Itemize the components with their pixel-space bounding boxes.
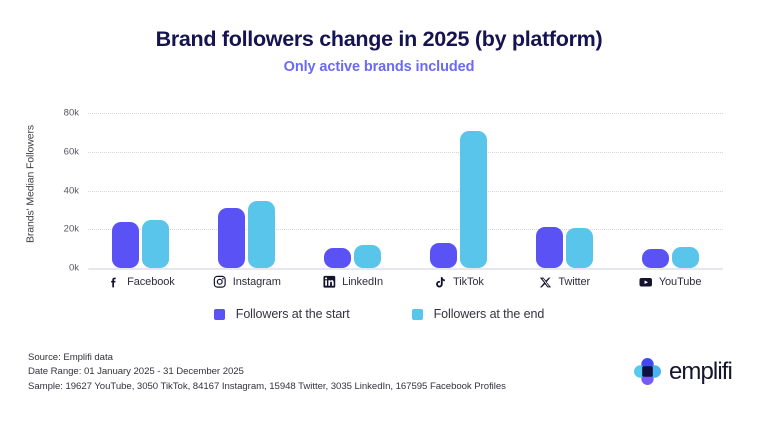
x-axis-labels: FacebookInstagramLinkedInTikTokTwitterYo… bbox=[88, 275, 723, 297]
x-axis-label-text: LinkedIn bbox=[342, 276, 383, 288]
footer-line-key: Source: bbox=[28, 352, 63, 363]
bar[interactable] bbox=[354, 245, 381, 268]
x-axis-label-text: Facebook bbox=[127, 276, 175, 288]
footer-line-key: Date Range: bbox=[28, 366, 84, 377]
bar-group-tiktok bbox=[406, 113, 512, 268]
bar[interactable] bbox=[672, 247, 699, 268]
legend-label: Followers at the start bbox=[236, 307, 350, 321]
bar-group-twitter bbox=[511, 113, 617, 268]
y-axis-title: Brands' Median Followers bbox=[25, 97, 37, 272]
x-axis-label-youtube: YouTube bbox=[639, 275, 702, 289]
chart-legend: Followers at the startFollowers at the e… bbox=[0, 307, 758, 321]
y-axis-tick-label: 60k bbox=[64, 146, 79, 157]
twitter-x-icon bbox=[538, 275, 552, 289]
footer-line-2: Sample: 19627 YouTube, 3050 TikTok, 8416… bbox=[28, 380, 506, 394]
bar-group-facebook bbox=[88, 113, 194, 268]
youtube-icon bbox=[639, 275, 653, 289]
brand-name: emplifi bbox=[669, 360, 732, 384]
x-axis-label-text: Instagram bbox=[233, 276, 281, 288]
bar[interactable] bbox=[218, 208, 245, 268]
plot-area: 0k20k40k60k80k bbox=[88, 113, 723, 268]
y-axis-tick-label: 40k bbox=[64, 185, 79, 196]
bar-group-youtube bbox=[617, 113, 723, 268]
tiktok-icon bbox=[433, 275, 447, 289]
bar[interactable] bbox=[536, 227, 563, 268]
y-axis-tick-label: 0k bbox=[69, 263, 79, 274]
bar[interactable] bbox=[112, 222, 139, 269]
footer-line-key: Sample: bbox=[28, 381, 65, 392]
x-axis-label-instagram: Instagram bbox=[213, 275, 281, 289]
x-axis-label-text: YouTube bbox=[659, 276, 702, 288]
footer-line-value: Emplifi data bbox=[63, 352, 113, 363]
bar-group-linkedin bbox=[300, 113, 406, 268]
emplifi-mark-svg bbox=[634, 358, 661, 385]
brand-logo: emplifi bbox=[634, 358, 732, 385]
legend-label: Followers at the end bbox=[434, 307, 545, 321]
bar[interactable] bbox=[566, 228, 593, 268]
page-title: Brand followers change in 2025 (by platf… bbox=[0, 27, 758, 52]
legend-item-0[interactable]: Followers at the start bbox=[214, 307, 350, 321]
bar-group-instagram bbox=[194, 113, 300, 268]
chart-canvas: Brands' Median Followers 0k20k40k60k80k … bbox=[0, 100, 758, 300]
x-axis-label-twitter: Twitter bbox=[538, 275, 590, 289]
x-axis-label-text: Twitter bbox=[558, 276, 590, 288]
footer-line-0: Source: Emplifi data bbox=[28, 351, 506, 365]
bar[interactable] bbox=[430, 243, 457, 268]
y-axis-tick-label: 80k bbox=[64, 108, 79, 119]
bar[interactable] bbox=[642, 249, 669, 268]
legend-swatch bbox=[412, 309, 423, 320]
emplifi-logo-icon bbox=[634, 358, 661, 385]
legend-item-1[interactable]: Followers at the end bbox=[412, 307, 545, 321]
footer-line-value: 01 January 2025 - 31 December 2025 bbox=[84, 366, 244, 377]
x-axis-label-text: TikTok bbox=[453, 276, 484, 288]
footer-line-value: 19627 YouTube, 3050 TikTok, 84167 Instag… bbox=[65, 381, 505, 392]
y-axis-tick-label: 20k bbox=[64, 224, 79, 235]
instagram-icon bbox=[213, 275, 227, 289]
chart-subtitle: Only active brands included bbox=[0, 59, 758, 75]
bar[interactable] bbox=[324, 248, 351, 268]
x-axis-baseline bbox=[88, 268, 723, 270]
legend-swatch bbox=[214, 309, 225, 320]
x-axis-label-tiktok: TikTok bbox=[433, 275, 484, 289]
bar[interactable] bbox=[460, 131, 487, 268]
footer-notes: Source: Emplifi dataDate Range: 01 Janua… bbox=[28, 351, 506, 394]
chart-header: Brand followers change in 2025 (by platf… bbox=[0, 0, 758, 75]
facebook-icon bbox=[107, 275, 121, 289]
linkedin-icon bbox=[322, 275, 336, 289]
x-axis-label-facebook: Facebook bbox=[107, 275, 175, 289]
x-axis-label-linkedin: LinkedIn bbox=[322, 275, 383, 289]
bar[interactable] bbox=[248, 201, 275, 268]
bar[interactable] bbox=[142, 220, 169, 268]
footer-line-1: Date Range: 01 January 2025 - 31 Decembe… bbox=[28, 365, 506, 379]
